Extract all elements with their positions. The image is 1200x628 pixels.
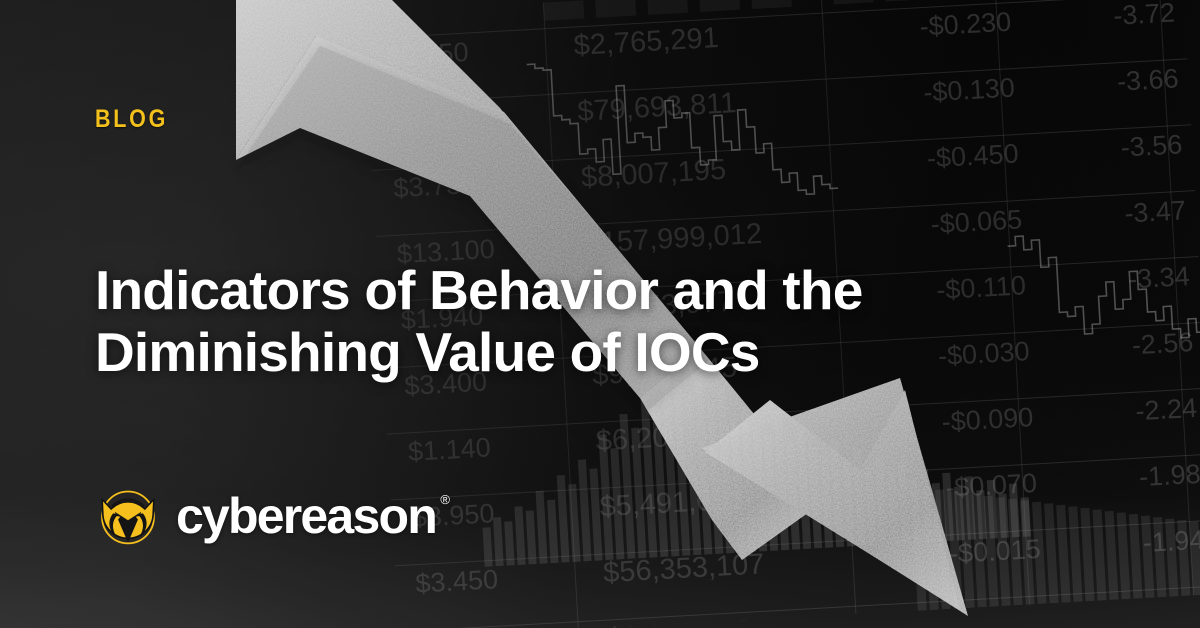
registered-trademark-icon: ®	[440, 493, 450, 506]
brand-wordmark: cybereason ®	[176, 491, 436, 541]
owl-logo-icon	[93, 481, 163, 551]
brand-name-text: cybereason	[176, 488, 436, 544]
cybereason-logo[interactable]: cybereason ®	[93, 481, 436, 551]
page-title: Indicators of Behavior and the Diminishi…	[95, 259, 1075, 383]
blog-eyebrow-label: BLOG	[95, 105, 168, 134]
blog-social-card: $6.750$2,765,291-$0.230-3.72$6.410$79,69…	[0, 0, 1200, 628]
page-title-line-2: Diminishing Value of IOCs	[95, 321, 1075, 383]
page-title-line-1: Indicators of Behavior and the	[95, 259, 1075, 321]
